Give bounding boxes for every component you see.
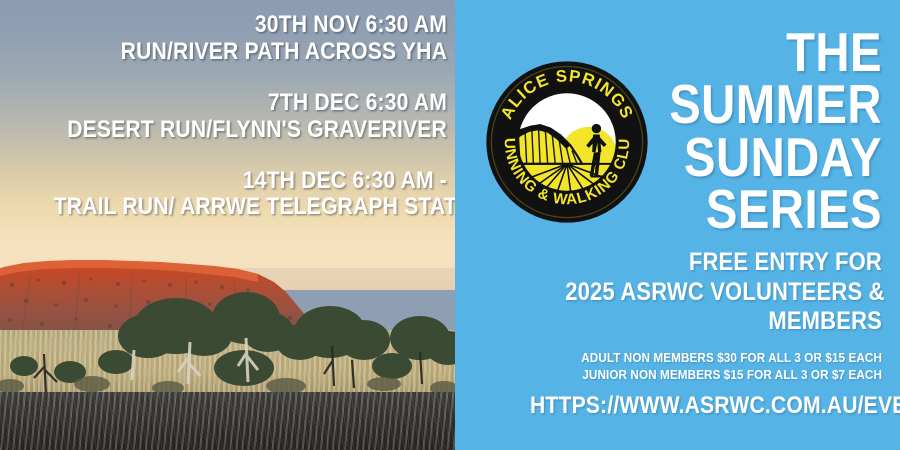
event-2-detail: DESERT RUN/FLYNN'S GRAVERIVER: [54, 117, 447, 144]
event-item-2: 7TH DEC 6:30 AM DESERT RUN/FLYNN'S GRAVE…: [0, 90, 447, 144]
headline-line-1: THE: [598, 26, 882, 78]
summer-sunday-series-poster: 30TH NOV 6:30 AM RUN/RIVER PATH ACROSS Y…: [0, 0, 900, 450]
event-1-detail: RUN/RIVER PATH ACROSS YHA: [54, 39, 447, 66]
events-link[interactable]: HTTPS://WWW.ASRWC.COM.AU/EVENTS: [482, 393, 882, 419]
free-entry-line-2: 2025 ASRWC VOLUNTEERS &: [565, 278, 882, 308]
info-panel: ALICE SPRINGS RUNNING & WALKING CLUB THE…: [455, 0, 900, 450]
free-entry-line-1: FREE ENTRY FOR: [565, 248, 882, 278]
adult-price-line: ADULT NON MEMBERS $30 FOR ALL 3 OR $15 E…: [558, 350, 882, 367]
event-1-date: 30TH NOV 6:30 AM: [54, 12, 447, 39]
event-schedule: 30TH NOV 6:30 AM RUN/RIVER PATH ACROSS Y…: [0, 0, 455, 450]
headline-line-3: SUNDAY: [598, 131, 882, 183]
headline-line-2: SUMMER: [598, 78, 882, 130]
headline-line-4: SERIES: [598, 183, 882, 235]
page-title: THE SUMMER SUNDAY SERIES: [552, 26, 882, 235]
events-url-text[interactable]: HTTPS://WWW.ASRWC.COM.AU/EVENTS: [530, 393, 882, 419]
pricing-details: ADULT NON MEMBERS $30 FOR ALL 3 OR $15 E…: [522, 350, 882, 383]
event-2-date: 7TH DEC 6:30 AM: [54, 90, 447, 117]
event-3-detail: TRAIL RUN/ ARRWE TELEGRAPH STATION: [54, 194, 447, 221]
free-entry-line-3: MEMBERS: [565, 307, 882, 337]
junior-price-line: JUNIOR NON MEMBERS $15 FOR ALL 3 OR $7 E…: [558, 367, 882, 384]
event-3-date: 14TH DEC 6:30 AM -: [54, 168, 447, 195]
free-entry-notice: FREE ENTRY FOR 2025 ASRWC VOLUNTEERS & M…: [522, 248, 882, 337]
event-item-1: 30TH NOV 6:30 AM RUN/RIVER PATH ACROSS Y…: [0, 12, 447, 66]
landscape-photo-panel: 30TH NOV 6:30 AM RUN/RIVER PATH ACROSS Y…: [0, 0, 455, 450]
event-item-3: 14TH DEC 6:30 AM - TRAIL RUN/ ARRWE TELE…: [0, 168, 447, 222]
